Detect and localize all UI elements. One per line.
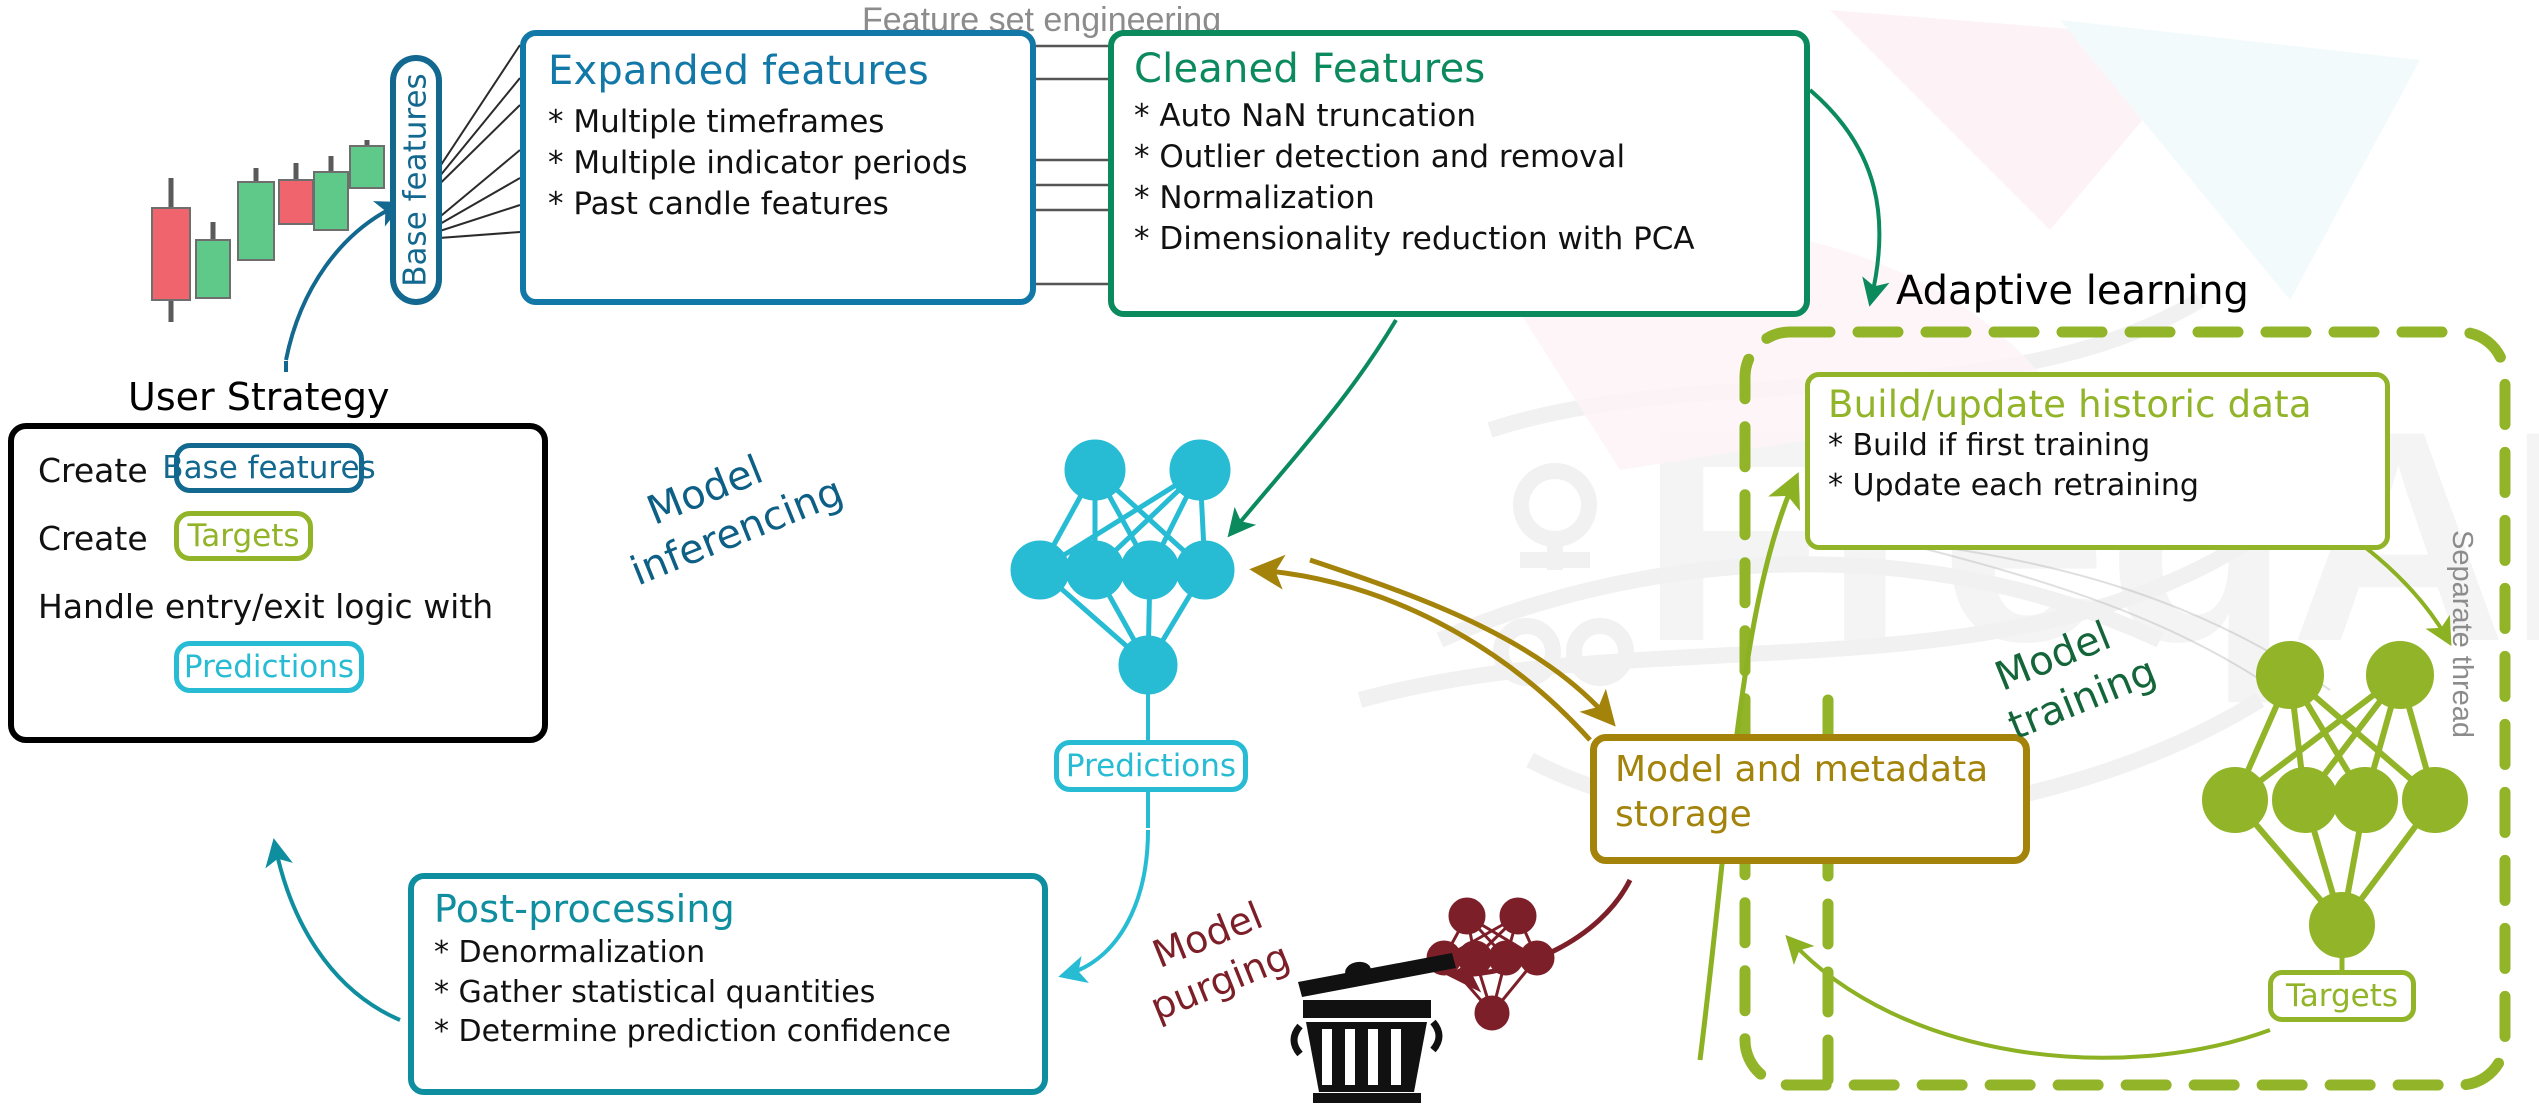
feature-box-connectors (1035, 46, 1108, 284)
list-item: * Dimensionality reduction with PCA (1134, 219, 1804, 260)
tag-targets-label: Targets (2286, 978, 2398, 1014)
box-post-processing[interactable]: Post-processing * Denormalization * Gath… (408, 873, 1048, 1095)
user-strategy-title: User Strategy (128, 375, 390, 419)
arrow-postprocessing-to-user-strategy (275, 845, 400, 1020)
tag-strategy-targets-label: Targets (187, 518, 299, 554)
box-cleaned-features-title: Cleaned Features (1134, 46, 1804, 92)
trash-can-icon (1294, 953, 1456, 1103)
user-strategy-row-3: Handle entry/exit logic with (38, 587, 493, 626)
tag-predictions-label: Predictions (1066, 748, 1236, 784)
separate-thread-label: Separate thread (2445, 530, 2478, 738)
list-item: * Build if first training (1828, 426, 2385, 466)
user-strategy-row-1: Create (38, 451, 148, 490)
arrow-cleaned-to-inference-nn (1232, 320, 1396, 532)
tag-strategy-predictions-label: Predictions (184, 649, 354, 685)
box-post-processing-title: Post-processing (434, 887, 1042, 931)
list-item: * Past candle features (548, 184, 1030, 225)
box-expanded-features-title: Expanded features (548, 48, 1030, 94)
list-item: * Multiple indicator periods (548, 143, 1030, 184)
list-item: * Denormalization (434, 933, 1042, 973)
tag-strategy-base-features[interactable]: Base features (174, 443, 364, 493)
box-model-metadata-storage-line-2: storage (1615, 794, 2023, 835)
box-cleaned-features[interactable]: Cleaned Features * Auto NaN truncation *… (1108, 30, 1810, 317)
box-cleaned-features-bullets: * Auto NaN truncation * Outlier detectio… (1134, 96, 1804, 260)
user-strategy-row-2: Create (38, 519, 148, 558)
box-user-strategy[interactable]: Create Base features Create Targets Hand… (8, 423, 548, 743)
adaptive-learning-label: Adaptive learning (1896, 268, 2249, 314)
box-expanded-features[interactable]: Expanded features * Multiple timeframes … (520, 30, 1036, 305)
tag-strategy-predictions[interactable]: Predictions (174, 641, 364, 693)
user-strategy-row-1-prefix: Create (38, 451, 148, 490)
list-item: * Outlier detection and removal (1134, 137, 1804, 178)
list-item: * Auto NaN truncation (1134, 96, 1804, 137)
candlestick-chart (152, 140, 384, 322)
user-strategy-row-2-prefix: Create (38, 519, 148, 558)
list-item: * Update each retraining (1828, 466, 2385, 506)
tag-strategy-base-features-label: Base features (162, 450, 375, 486)
diagram-canvas: FreqAI (0, 0, 2539, 1104)
list-item: * Determine prediction confidence (434, 1012, 1042, 1052)
tag-targets[interactable]: Targets (2268, 970, 2416, 1022)
user-strategy-row-3-prefix: Handle entry/exit logic with (38, 587, 493, 626)
box-build-update-historic-data[interactable]: Build/update historic data * Build if fi… (1805, 372, 2390, 550)
list-item: * Gather statistical quantities (434, 973, 1042, 1013)
list-item: * Multiple timeframes (548, 102, 1030, 143)
box-build-update-historic-data-title: Build/update historic data (1828, 383, 2385, 426)
list-item: * Normalization (1134, 178, 1804, 219)
box-model-metadata-storage-line-1: Model and metadata (1615, 749, 2023, 790)
box-model-metadata-storage[interactable]: Model and metadata storage (1590, 734, 2030, 864)
box-post-processing-bullets: * Denormalization * Gather statistical q… (434, 933, 1042, 1052)
tag-base-features-label: Base features (398, 73, 434, 286)
box-build-update-historic-data-bullets: * Build if first training * Update each … (1828, 426, 2385, 505)
tag-predictions[interactable]: Predictions (1054, 740, 1248, 792)
arrow-training-to-storage-loop (1790, 940, 2270, 1058)
arrow-predictions-to-postprocessing (1065, 830, 1148, 975)
tag-base-features[interactable]: Base features (390, 55, 442, 305)
tag-strategy-targets[interactable]: Targets (174, 511, 313, 561)
box-expanded-features-bullets: * Multiple timeframes * Multiple indicat… (548, 102, 1030, 226)
